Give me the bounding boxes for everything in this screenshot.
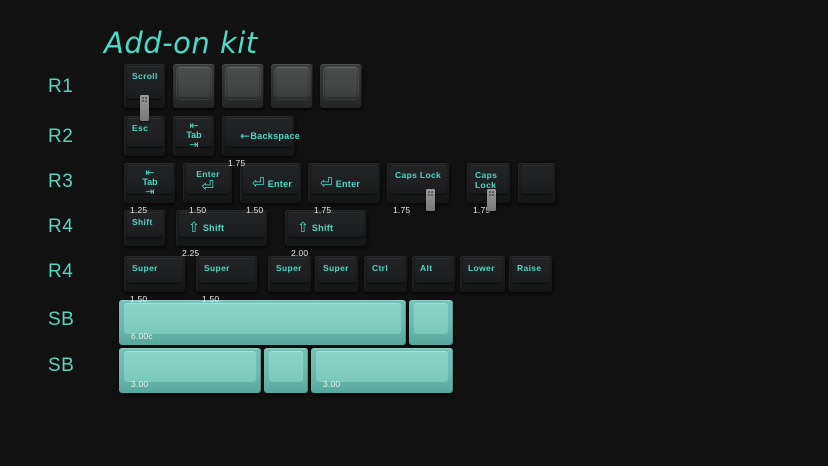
shift-arrow-icon: ⇧ — [297, 220, 309, 236]
keycap-legend-shift: ⇧ Shift — [297, 220, 333, 236]
keycap-legend-text: Ctrl — [372, 263, 388, 273]
keycap-size-label: 1.50 — [246, 205, 263, 215]
keycap-legend-text: Shift — [203, 223, 225, 233]
keycap-top-surface — [414, 303, 448, 334]
keycap-r2-esc-0[interactable]: Esc — [124, 116, 166, 156]
shift-arrow-icon: ⇧ — [188, 220, 200, 236]
keycap-r4a-shift-1[interactable]: ⇧ Shift — [176, 210, 268, 246]
enter-arrow-icon: ⏎ — [320, 174, 333, 192]
keycap-legend-shift: ⇧ Shift — [188, 220, 224, 236]
keycap-legend-text: Alt — [420, 263, 432, 273]
keycap-top-surface — [316, 351, 448, 382]
keycap-top-surface — [226, 67, 260, 99]
keycap-legend-text: Super — [276, 263, 302, 273]
keycap-kit-canvas: Add-on kit R1R2R3R4R4SBSB ScrollEsc⇤Tab⇥… — [0, 0, 828, 466]
keycap-sb2-blank-1[interactable] — [264, 348, 308, 393]
switch-stem-icon — [140, 95, 149, 121]
keycap-r3-enter-1[interactable]: Enter⏎ — [183, 163, 233, 203]
keycap-r4b-alt-5[interactable]: Alt — [412, 256, 456, 292]
keycap-legend-text: Shift — [312, 223, 334, 233]
keycap-legend-text: Caps Lock — [395, 170, 441, 180]
keycap-size-label: 3.00 — [131, 379, 148, 389]
keycap-r2-tab-1[interactable]: ⇤Tab⇥ — [173, 116, 215, 156]
row-label-sb-6: SB — [48, 355, 74, 377]
row-label-sb-5: SB — [48, 309, 74, 331]
keycap-r4a-shift-2[interactable]: ⇧ Shift — [285, 210, 367, 246]
keycap-r4b-lower-6[interactable]: Lower — [460, 256, 506, 292]
keycap-legend-backspace: ←Backspace — [240, 129, 300, 143]
keycap-size-label: 2.00 — [291, 248, 308, 258]
keycap-legend-text: CapsLock — [475, 170, 497, 190]
keycap-r1-blank-3[interactable] — [271, 64, 313, 108]
row-label-r1-0: R1 — [48, 76, 73, 98]
keycap-size-label: 2.25 — [182, 248, 199, 258]
keycap-r3-blank-6[interactable] — [518, 163, 556, 203]
keycap-size-label: 1.25 — [130, 205, 147, 215]
keycap-legend-tab: ⇤Tab⇥ — [124, 168, 176, 196]
tab-out-icon: ⇥ — [124, 187, 176, 196]
keycap-legend-text: Super — [132, 263, 158, 273]
keycap-top-surface — [177, 67, 211, 99]
keycap-size-label: 3.00 — [323, 379, 340, 389]
keycap-size-label: 1.75 — [314, 205, 331, 215]
enter-arrow-icon: ⏎ — [183, 179, 233, 194]
keycap-legend-text: Shift — [132, 217, 153, 227]
keycap-size-label: 6.00c — [131, 331, 153, 341]
page-title: Add-on kit — [104, 26, 258, 60]
keycap-sb1-blank-1[interactable] — [409, 300, 453, 345]
keycap-legend-text: Super — [323, 263, 349, 273]
keycap-top-surface — [521, 165, 553, 195]
switch-stem-icon — [426, 189, 435, 211]
keycap-size-label: 1.75 — [228, 158, 245, 168]
keycap-top-surface — [275, 67, 309, 99]
keycap-legend-enter: ⏎ Enter — [320, 174, 360, 192]
keycap-size-label: 1.75 — [393, 205, 410, 215]
backspace-arrow-icon: ← — [240, 129, 250, 143]
keycap-r1-blank-1[interactable] — [173, 64, 215, 108]
keycap-r4b-super-0[interactable]: Super — [124, 256, 186, 292]
keycap-legend-enter: ⏎ Enter — [252, 174, 292, 192]
row-label-r4-3: R4 — [48, 216, 73, 238]
keycap-r4b-super-2[interactable]: Super — [268, 256, 312, 292]
keycap-size-label: 1.50 — [130, 294, 147, 304]
keycap-legend-text: Enter — [268, 179, 293, 189]
tab-in-icon: ⇤ — [124, 168, 176, 177]
keycap-legend-text: Backspace — [250, 131, 300, 141]
keycap-r3-enter-3[interactable]: ⏎ Enter — [308, 163, 381, 203]
keycap-legend-enter-iso: Enter⏎ — [183, 169, 233, 194]
row-label-r3-2: R3 — [48, 171, 73, 193]
keycap-r3-enter-2[interactable]: ⏎ Enter — [240, 163, 302, 203]
keycap-r1-blank-4[interactable] — [320, 64, 362, 108]
keycap-r4b-ctrl-4[interactable]: Ctrl — [364, 256, 408, 292]
row-label-r2-1: R2 — [48, 126, 73, 148]
row-label-r4-4: R4 — [48, 261, 73, 283]
keycap-legend-text: Scroll — [132, 71, 158, 81]
keycap-r4b-super-3[interactable]: Super — [315, 256, 359, 292]
keycap-legend-text: Enter — [336, 179, 361, 189]
tab-in-icon: ⇤ — [173, 121, 215, 130]
keycap-r4b-raise-7[interactable]: Raise — [509, 256, 553, 292]
switch-stem-icon — [487, 189, 496, 211]
keycap-legend-text: Esc — [132, 123, 148, 133]
tab-out-icon: ⇥ — [173, 140, 215, 149]
keycap-top-surface — [269, 351, 303, 382]
keycap-legend-text: Raise — [517, 263, 541, 273]
keycap-r3-caps-lock-4[interactable]: Caps Lock — [387, 163, 450, 203]
keycap-top-surface — [324, 67, 358, 99]
keycap-size-label: 1.50 — [202, 294, 219, 304]
keycap-legend-tab: ⇤Tab⇥ — [173, 121, 215, 149]
keycap-size-label: 1.50 — [189, 205, 206, 215]
keycap-r2-backspace-2[interactable]: ←Backspace — [222, 116, 295, 156]
keycap-r1-blank-2[interactable] — [222, 64, 264, 108]
keycap-r4a-shift-0[interactable]: Shift — [124, 210, 166, 246]
keycap-legend-text: Lower — [468, 263, 495, 273]
keycap-top-surface — [124, 303, 401, 334]
keycap-r3-tab-0[interactable]: ⇤Tab⇥ — [124, 163, 176, 203]
keycap-legend-text: Super — [204, 263, 230, 273]
enter-arrow-icon: ⏎ — [252, 174, 265, 192]
keycap-r4b-super-1[interactable]: Super — [196, 256, 258, 292]
keycap-sb1-blank-0[interactable] — [119, 300, 406, 345]
keycap-top-surface — [124, 351, 256, 382]
